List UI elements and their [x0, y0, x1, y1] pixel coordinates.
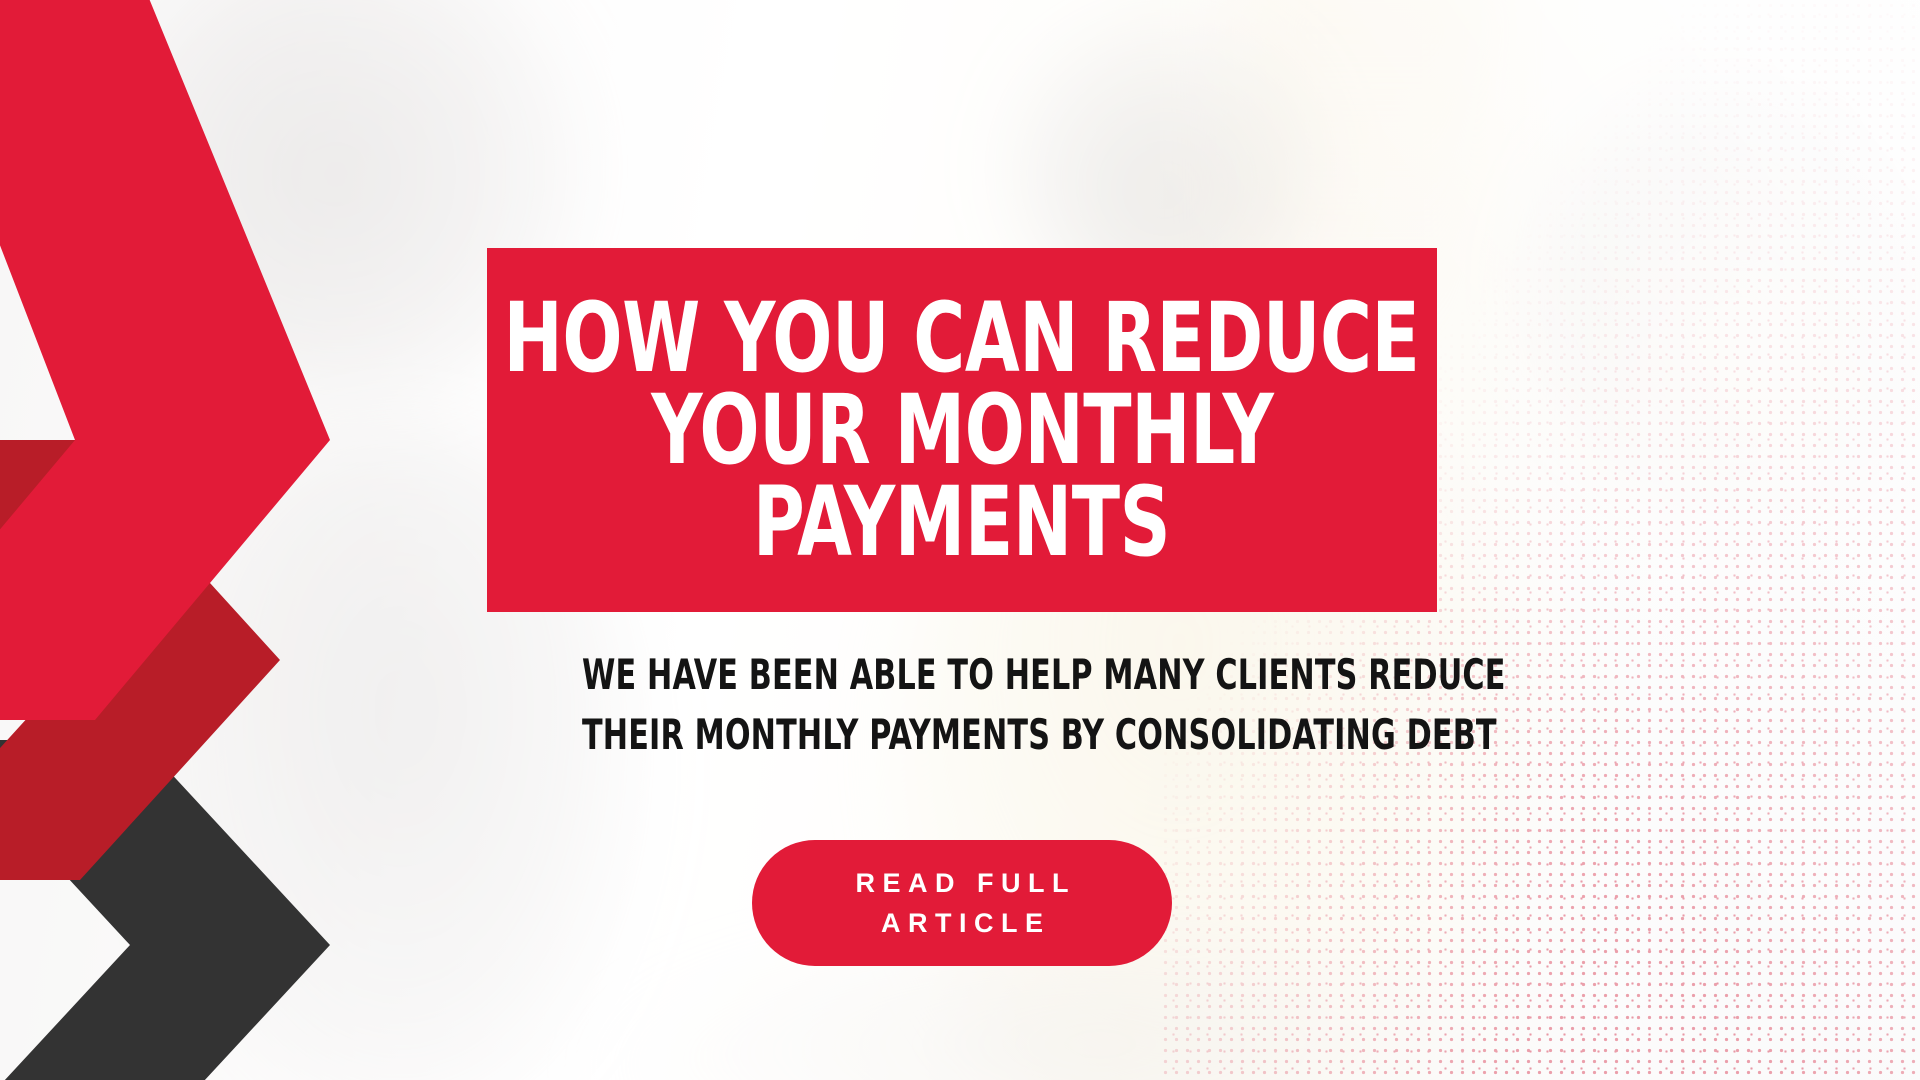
- headline-line-2: YOUR MONTHLY: [651, 384, 1273, 476]
- read-full-article-button[interactable]: READ FULL ARTICLE: [752, 840, 1172, 966]
- promo-banner: HOW YOU CAN REDUCE YOUR MONTHLY PAYMENTS…: [0, 0, 1920, 1080]
- subtitle: WE HAVE BEEN ABLE TO HELP MANY CLIENTS R…: [487, 645, 1437, 764]
- headline-line-1: HOW YOU CAN REDUCE: [504, 292, 1420, 384]
- cta-label-line-1: READ FULL: [848, 863, 1076, 904]
- subtitle-line-2: THEIR MONTHLY PAYMENTS BY CONSOLIDATING …: [582, 705, 1342, 765]
- headline-line-3: PAYMENTS: [753, 476, 1170, 568]
- subtitle-line-1: WE HAVE BEEN ABLE TO HELP MANY CLIENTS R…: [582, 645, 1342, 705]
- cta-container: READ FULL ARTICLE: [487, 840, 1437, 966]
- cta-label-line-2: ARTICLE: [874, 903, 1051, 944]
- headline-box: HOW YOU CAN REDUCE YOUR MONTHLY PAYMENTS: [487, 248, 1437, 612]
